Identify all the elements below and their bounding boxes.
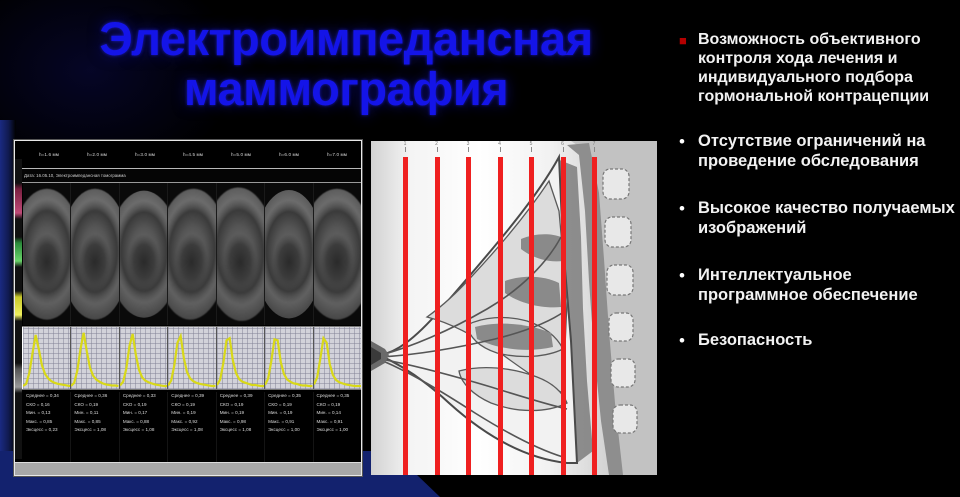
eim-scan-panel: h=1.6 мм h=2.0 мм h=3.0 мм h=4.5 мм h=5.… [14, 140, 362, 476]
stat-value: Среднее = 0,39 [171, 392, 215, 401]
stat-value: Мин. = 0,19 [220, 409, 264, 418]
stat-value: Среднее = 0,33 [123, 392, 167, 401]
slice-image [71, 189, 119, 320]
tomogram-slice-row [15, 183, 361, 326]
stat-value: Эксцесс = 0,23 [26, 426, 70, 435]
list-item: ■ Возможность объективного контроля хода… [676, 30, 956, 106]
histogram-row [15, 326, 361, 390]
scan-line-number: 5 [530, 141, 533, 147]
stat-value: Макс. = 0,91 [317, 418, 361, 427]
scan-line-tick [437, 147, 438, 152]
scan-info-bar: Дата: 16.05.10, Электроимпедансная томог… [15, 169, 361, 183]
stat-value: Мин. = 0,11 [74, 409, 118, 418]
stat-value: Мин. = 0,13 [26, 409, 70, 418]
slice-image [168, 187, 216, 320]
depth-label: h=3.0 мм [121, 152, 169, 158]
tomogram-slice [71, 183, 119, 325]
statistics-column: Среднее = 0,35 СКО = 0,19 Мин. = 0,19 Ма… [265, 392, 313, 462]
depth-label: h=2.0 мм [73, 152, 121, 158]
stat-value: Макс. = 0,92 [171, 418, 215, 427]
scan-plane-line [561, 157, 566, 475]
stat-value: Среднее = 0,36 [74, 392, 118, 401]
scan-depth-header: h=1.6 мм h=2.0 мм h=3.0 мм h=4.5 мм h=5.… [15, 141, 361, 169]
histogram-chart [265, 327, 313, 389]
bullet-text: Интеллектуальное программное обеспечение [698, 266, 956, 305]
histogram-chart [120, 327, 168, 389]
depth-label: h=7.0 мм [313, 152, 361, 158]
histogram-chart [71, 327, 119, 389]
scan-plane-line [529, 157, 534, 475]
bullet-text: Высокое качество получаемых изображений [698, 199, 956, 238]
stat-value: СКО = 0,19 [317, 401, 361, 410]
depth-label: h=5.0 мм [217, 152, 265, 158]
histogram-chart [23, 327, 71, 389]
list-item: • Интеллектуальное программное обеспечен… [676, 266, 956, 305]
stat-value: Макс. = 0,85 [74, 418, 118, 427]
scan-line-tick [531, 147, 532, 152]
histogram-chart [314, 327, 361, 389]
stat-value: Среднее = 0,35 [317, 392, 361, 401]
stat-value: Мин. = 0,19 [268, 409, 312, 418]
bullet-marker-dot-icon: • [676, 331, 698, 351]
slice-image [120, 191, 168, 318]
slice-image [314, 189, 361, 320]
statistics-column: Среднее = 0,34 СКО = 0,16 Мин. = 0,13 Ма… [23, 392, 71, 462]
stat-value: Эксцесс = 1,08 [74, 426, 118, 435]
stat-value: Среднее = 0,34 [26, 392, 70, 401]
title-line-2: маммография [26, 64, 666, 114]
depth-label: h=1.6 мм [25, 152, 73, 158]
stat-value: СКО = 0,19 [220, 401, 264, 410]
stat-value: СКО = 0,19 [268, 401, 312, 410]
tomogram-slice [265, 183, 313, 325]
stat-value: СКО = 0,19 [171, 401, 215, 410]
scan-line-number: 7 [593, 141, 596, 147]
scan-line-tick [563, 147, 564, 152]
tomogram-slice [217, 183, 265, 325]
scan-line-tick [405, 147, 406, 152]
scan-line-number: 4 [498, 141, 501, 147]
bullet-list: ■ Возможность объективного контроля хода… [676, 30, 956, 370]
tomogram-slice [120, 183, 168, 325]
stat-value: Среднее = 0,39 [220, 392, 264, 401]
slice-image [217, 186, 265, 322]
stat-value: СКО = 0,19 [74, 401, 118, 410]
scan-info-text: Дата: 16.05.10, Электроимпедансная томог… [24, 173, 126, 179]
statistics-column: Среднее = 0,35 СКО = 0,19 Мин. = 0,14 Ма… [314, 392, 361, 462]
depth-label: h=6.0 мм [265, 152, 313, 158]
panel-status-bar [15, 462, 361, 475]
title-line-1: Электроимпедансная [99, 12, 592, 65]
stat-value: Эксцесс = 1,00 [268, 426, 312, 435]
stat-value: Эксцесс = 1,00 [317, 426, 361, 435]
scan-plane-line [435, 157, 440, 475]
tomogram-slice [23, 183, 71, 325]
bullet-marker-dot-icon: • [676, 132, 698, 152]
stat-value: Среднее = 0,35 [268, 392, 312, 401]
stat-value: Мин. = 0,19 [171, 409, 215, 418]
scan-line-tick [468, 147, 469, 152]
scan-plane-line [466, 157, 471, 475]
stat-value: СКО = 0,19 [123, 401, 167, 410]
bullet-marker-dot-icon: • [676, 266, 698, 286]
tomogram-slice [314, 183, 361, 325]
scan-plane-line [592, 157, 597, 475]
list-item: • Безопасность [676, 331, 956, 351]
histogram-chart [217, 327, 265, 389]
stat-value: Мин. = 0,17 [123, 409, 167, 418]
stat-value: Макс. = 0,85 [26, 418, 70, 427]
list-item: • Отсутствие ограничений на проведение о… [676, 132, 956, 171]
statistics-column: Среднее = 0,39 СКО = 0,19 Мин. = 0,19 Ма… [168, 392, 216, 462]
bullet-text: Отсутствие ограничений на проведение обс… [698, 132, 956, 171]
stat-value: Эксцесс = 1,08 [171, 426, 215, 435]
breast-anatomy-illustration [371, 141, 657, 475]
slice-image [23, 189, 71, 320]
stat-value: Макс. = 0,91 [268, 418, 312, 427]
histogram-chart [168, 327, 216, 389]
stat-value: Мин. = 0,14 [317, 409, 361, 418]
list-item: • Высокое качество получаемых изображени… [676, 199, 956, 238]
statistics-row: Среднее = 0,34 СКО = 0,16 Мин. = 0,13 Ма… [15, 390, 361, 462]
scan-line-tick [500, 147, 501, 152]
stat-value: Макс. = 0,88 [123, 418, 167, 427]
statistics-column: Среднее = 0,33 СКО = 0,19 Мин. = 0,17 Ма… [120, 392, 168, 462]
slice-image [265, 190, 313, 318]
breast-anatomy-panel: 1234567 [371, 141, 657, 475]
slide-title: Электроимпедансная маммография [26, 14, 666, 114]
bullet-text: Возможность объективного контроля хода л… [698, 30, 956, 106]
tomogram-slice [168, 183, 216, 325]
scan-line-number: 6 [561, 141, 564, 147]
scan-line-tick [594, 147, 595, 152]
statistics-column: Среднее = 0,39 СКО = 0,19 Мин. = 0,19 Ма… [217, 392, 265, 462]
color-scale-strip [15, 159, 22, 459]
scan-line-number: 2 [435, 141, 438, 147]
stat-value: Эксцесс = 1,08 [123, 426, 167, 435]
scan-line-number: 1 [404, 141, 407, 147]
stat-value: Эксцесс = 1,08 [220, 426, 264, 435]
stat-value: СКО = 0,16 [26, 401, 70, 410]
depth-label: h=4.5 мм [169, 152, 217, 158]
scan-line-number: 3 [467, 141, 470, 147]
bullet-text: Безопасность [698, 331, 956, 351]
bullet-marker-dot-icon: • [676, 199, 698, 219]
scan-plane-line [403, 157, 408, 475]
stat-value: Макс. = 0,98 [220, 418, 264, 427]
statistics-column: Среднее = 0,36 СКО = 0,19 Мин. = 0,11 Ма… [71, 392, 119, 462]
bullet-marker-square-icon: ■ [676, 30, 698, 52]
scan-plane-line [498, 157, 503, 475]
